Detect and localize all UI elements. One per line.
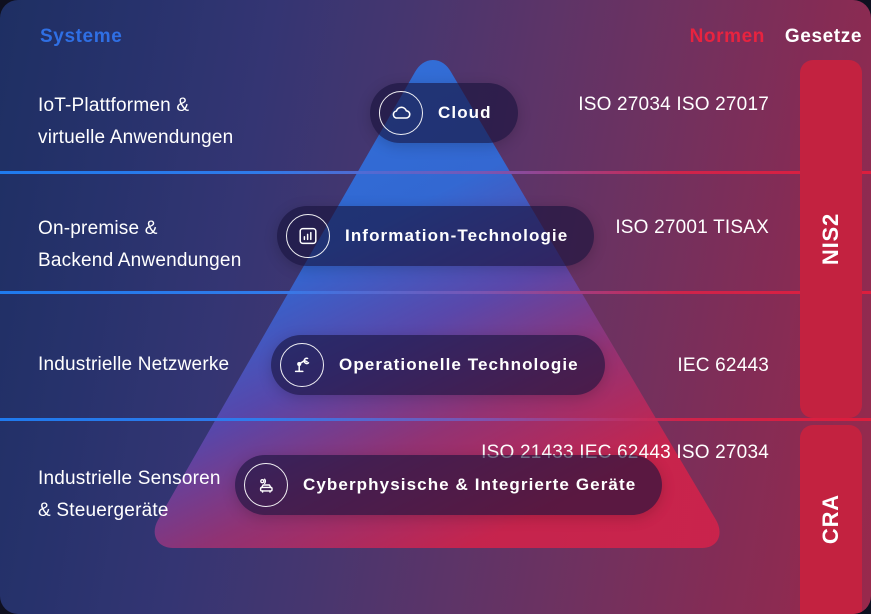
system-label-row-1: IoT-Plattformen & virtuelle Anwendungen [38,90,233,154]
robot-arm-icon [280,343,324,387]
layer-pill-label: Cyberphysische & Integrierte Geräte [303,475,636,495]
system-label-row-3: Industrielle Netzwerke [38,349,229,381]
diagram-canvas: Systeme Normen Gesetze IoT-Plattformen &… [0,0,871,614]
layer-pill-label: Cloud [438,103,492,123]
cloud-icon [379,91,423,135]
law-bar-label: NIS2 [818,213,844,265]
column-header-gesetze: Gesetze [785,26,862,48]
column-header-normen: Normen [690,26,765,48]
dashboard-chart-icon [286,214,330,258]
layer-pill-label: Operationelle Technologie [339,355,579,375]
column-header-systeme: Systeme [40,26,122,48]
law-bar-cra[interactable]: CRA [800,425,862,614]
layer-pill-it[interactable]: Information-Technologie [277,206,594,266]
row-divider-2 [0,291,871,294]
law-bar-label: CRA [818,494,844,544]
layer-pill-cloud[interactable]: Cloud [370,83,518,143]
system-label-row-2: On-premise & Backend Anwendungen [38,213,241,277]
system-label-row-4: Industrielle Sensoren & Steuergeräte [38,463,221,527]
vehicle-sensor-icon [244,463,288,507]
layer-pill-label: Information-Technologie [345,226,568,246]
layer-pill-ot[interactable]: Operationelle Technologie [271,335,605,395]
layer-pill-cyberphysical[interactable]: Cyberphysische & Integrierte Geräte [235,455,662,515]
row-divider-1 [0,171,871,174]
norms-row-2: ISO 27001 TISAX [615,212,769,243]
norms-row-3: IEC 62443 [677,350,769,381]
norms-row-1: ISO 27034 ISO 27017 [578,89,769,120]
row-divider-3 [0,418,871,421]
law-bar-nis2[interactable]: NIS2 [800,60,862,418]
